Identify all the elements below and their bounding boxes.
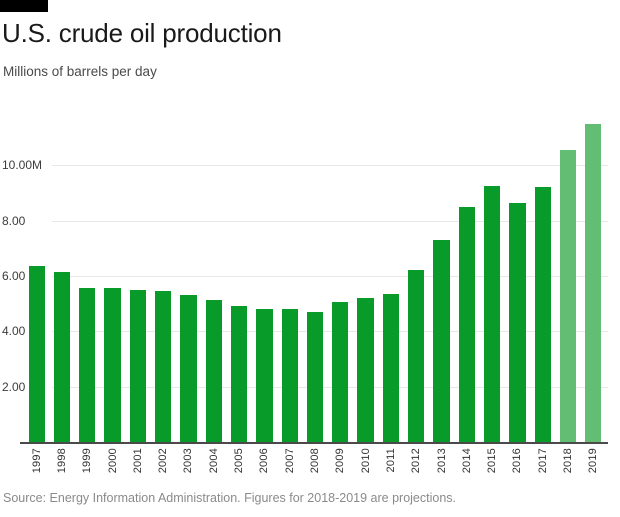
bar-group-1998[interactable]: 1998 (49, 96, 74, 442)
x-axis-tick-label-1998: 1998 (56, 448, 68, 473)
bar-2009[interactable] (332, 302, 348, 442)
x-axis-tick-label-2002: 2002 (157, 448, 169, 473)
x-axis-tick-label-2011: 2011 (385, 448, 397, 472)
bar-2004[interactable] (206, 300, 222, 442)
x-axis-tick-label-2004: 2004 (208, 448, 220, 473)
bar-2019[interactable] (585, 124, 601, 442)
bar-2003[interactable] (180, 295, 196, 442)
x-axis-tick-label-2001: 2001 (132, 448, 144, 473)
bar-2000[interactable] (104, 288, 120, 442)
bar-group-2018[interactable]: 2018 (555, 96, 580, 442)
x-axis-tick-label-2000: 2000 (107, 448, 119, 473)
bar-2014[interactable] (459, 207, 475, 442)
x-axis-tick-label-2009: 2009 (334, 448, 346, 473)
bar-group-2017[interactable]: 2017 (530, 96, 555, 442)
bar-1998[interactable] (54, 272, 70, 442)
bar-2010[interactable] (357, 298, 373, 442)
bar-2007[interactable] (282, 309, 298, 442)
x-axis-tick-label-2018: 2018 (562, 448, 574, 473)
x-axis-tick-label-2008: 2008 (309, 448, 321, 473)
bar-2005[interactable] (231, 306, 247, 442)
bar-2017[interactable] (535, 187, 551, 442)
bar-group-2011[interactable]: 2011 (378, 96, 403, 442)
bar-group-2008[interactable]: 2008 (302, 96, 327, 442)
bar-2002[interactable] (155, 291, 171, 442)
bar-group-2001[interactable]: 2001 (125, 96, 150, 442)
bars-layer: 1997199819992000200120022003200420052006… (24, 96, 606, 486)
x-axis-tick-label-2014: 2014 (461, 448, 473, 473)
bar-group-2012[interactable]: 2012 (404, 96, 429, 442)
bar-group-2013[interactable]: 2013 (429, 96, 454, 442)
x-axis-tick-label-2003: 2003 (182, 448, 194, 473)
bar-1999[interactable] (79, 288, 95, 442)
bar-group-2006[interactable]: 2006 (252, 96, 277, 442)
y-axis-tick-label: 2.00 (2, 380, 25, 394)
bar-2016[interactable] (509, 203, 525, 442)
x-axis-tick-label-2006: 2006 (258, 448, 270, 473)
bar-2013[interactable] (433, 240, 449, 442)
bar-group-2007[interactable]: 2007 (277, 96, 302, 442)
bar-group-2010[interactable]: 2010 (353, 96, 378, 442)
y-axis-tick-label: 8.00 (2, 214, 25, 228)
bar-group-2009[interactable]: 2009 (328, 96, 353, 442)
x-axis-tick-label-2012: 2012 (410, 448, 422, 473)
x-axis-tick-label-2007: 2007 (284, 448, 296, 473)
bar-group-2002[interactable]: 2002 (151, 96, 176, 442)
bar-group-1999[interactable]: 1999 (75, 96, 100, 442)
x-axis-tick-label-2005: 2005 (233, 448, 245, 473)
bar-2011[interactable] (383, 294, 399, 442)
bar-2018[interactable] (560, 150, 576, 442)
x-axis-tick-label-2010: 2010 (360, 448, 372, 473)
chart-subtitle: Millions of barrels per day (3, 64, 157, 79)
bar-group-2019[interactable]: 2019 (581, 96, 606, 442)
bar-2015[interactable] (484, 186, 500, 442)
bar-group-2004[interactable]: 2004 (201, 96, 226, 442)
bar-2008[interactable] (307, 312, 323, 442)
accent-rule (0, 0, 48, 12)
bar-2006[interactable] (256, 309, 272, 442)
chart-source-note: Source: Energy Information Administratio… (3, 491, 456, 505)
x-axis-line (20, 442, 608, 444)
y-axis-tick-label: 6.00 (2, 269, 25, 283)
page-title: U.S. crude oil production (2, 18, 282, 49)
bar-group-2000[interactable]: 2000 (100, 96, 125, 442)
bar-group-2014[interactable]: 2014 (454, 96, 479, 442)
bar-1997[interactable] (29, 266, 45, 442)
x-axis-tick-label-2013: 2013 (436, 448, 448, 473)
y-axis-tick-label: 4.00 (2, 324, 25, 338)
bar-group-1997[interactable]: 1997 (24, 96, 49, 442)
x-axis-tick-label-2017: 2017 (537, 448, 549, 473)
x-axis-tick-label-1999: 1999 (81, 448, 93, 473)
x-axis-tick-label-2015: 2015 (486, 448, 498, 473)
x-axis-tick-label-2019: 2019 (587, 448, 599, 473)
x-axis-tick-label-1997: 1997 (31, 448, 43, 473)
x-axis-tick-label-2016: 2016 (511, 448, 523, 473)
bar-2001[interactable] (130, 290, 146, 442)
bar-group-2005[interactable]: 2005 (226, 96, 251, 442)
chart-plot-area: 2.004.006.008.0010.00M 19971998199920002… (0, 96, 620, 486)
bar-group-2003[interactable]: 2003 (176, 96, 201, 442)
bar-group-2015[interactable]: 2015 (479, 96, 504, 442)
bar-group-2016[interactable]: 2016 (505, 96, 530, 442)
bar-2012[interactable] (408, 270, 424, 442)
